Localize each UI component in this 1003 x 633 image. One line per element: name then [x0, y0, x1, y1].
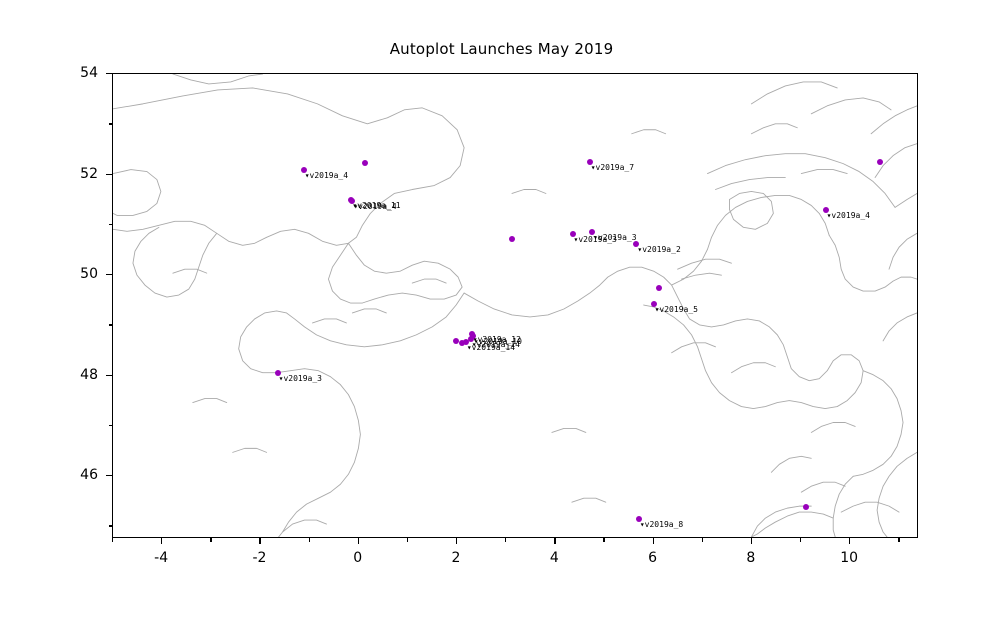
y-axis-minor-tick	[109, 224, 113, 225]
page-title: Autoplot Launches May 2019	[0, 40, 1003, 58]
y-axis-minor-tick	[109, 525, 113, 526]
y-axis-tick-label: 50	[54, 266, 98, 282]
y-axis-tick-label: 52	[54, 166, 98, 182]
y-axis-tick-label: 48	[54, 367, 98, 383]
x-axis-tick	[751, 538, 752, 544]
x-axis-tick-label: 2	[452, 550, 461, 566]
y-axis-tick	[106, 475, 112, 476]
x-axis-tick-label: -2	[252, 550, 266, 566]
x-axis-minor-tick	[505, 538, 506, 542]
x-axis-minor-tick	[702, 538, 703, 542]
x-axis-minor-tick	[210, 538, 211, 542]
x-axis-tick-label: 8	[746, 550, 755, 566]
x-axis-tick	[161, 538, 162, 544]
x-axis-tick	[259, 538, 260, 544]
x-axis-tick	[456, 538, 457, 544]
y-axis-tick-label: 46	[54, 467, 98, 483]
y-axis-minor-tick	[109, 324, 113, 325]
y-axis-tick	[106, 375, 112, 376]
y-axis-minor-tick	[109, 425, 113, 426]
x-axis-tick	[358, 538, 359, 544]
x-axis-minor-tick	[407, 538, 408, 542]
y-axis-tick	[106, 174, 112, 175]
x-axis-tick-label: 4	[550, 550, 559, 566]
x-axis-tick-label: 6	[648, 550, 657, 566]
x-axis-minor-tick	[898, 538, 899, 542]
x-axis-tick	[653, 538, 654, 544]
x-axis-minor-tick	[800, 538, 801, 542]
y-axis-tick	[106, 274, 112, 275]
chart-page: Autoplot Launches May 2019	[0, 0, 1003, 633]
x-axis-tick-label: 0	[353, 550, 362, 566]
x-axis-tick	[849, 538, 850, 544]
x-axis-minor-tick	[112, 538, 113, 542]
plot-area: ▾v2019a_4▾v2019a_11▾v2019a_4▾v2019a_7▾v2…	[112, 73, 918, 538]
basemap-coastlines	[113, 74, 917, 537]
x-axis-tick-label: 10	[840, 550, 858, 566]
y-axis-tick-label: 54	[54, 65, 98, 81]
x-axis-tick	[554, 538, 555, 544]
x-axis-tick-label: -4	[154, 550, 168, 566]
x-axis-minor-tick	[603, 538, 604, 542]
y-axis-minor-tick	[109, 123, 113, 124]
y-axis-tick	[106, 73, 112, 74]
x-axis-minor-tick	[309, 538, 310, 542]
